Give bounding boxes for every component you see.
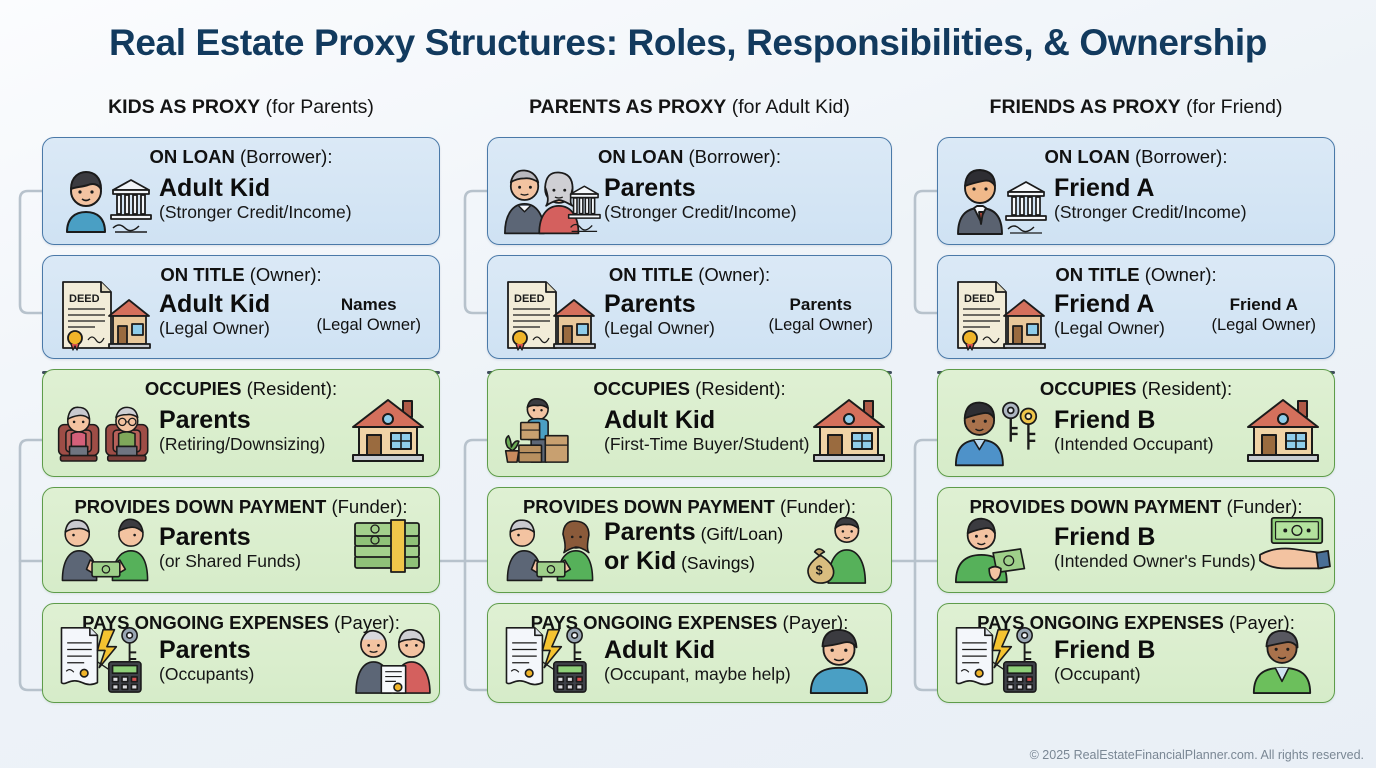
role-key: OCCUPIES	[593, 378, 690, 399]
person-holding-cash-icon	[950, 511, 1050, 585]
card-name: Friend B	[1054, 407, 1244, 434]
column-header-friends: FRIENDS AS PROXY (for Friend)	[937, 96, 1335, 119]
card-on-loan[interactable]: ON LOAN (Borrower):	[937, 137, 1335, 245]
card-subtext: (Occupants)	[159, 664, 349, 685]
card-subtext: (Stronger Credit/Income)	[159, 202, 427, 223]
card-texts: Parents (Legal Owner)	[600, 291, 764, 339]
funder-conjunction: or	[604, 547, 636, 575]
card-down-payment[interactable]: PROVIDES DOWN PAYMENT (Funder):	[42, 487, 440, 593]
role-qualifier: (Resident):	[690, 378, 786, 399]
card-down-payment[interactable]: PROVIDES DOWN PAYMENT (Funder):	[937, 487, 1335, 593]
role-qualifier: (Resident):	[1137, 378, 1233, 399]
card-subtext: (Stronger Credit/Income)	[604, 202, 879, 223]
card-name-line-2: or Kid (Savings)	[604, 548, 801, 577]
svg-text:DEED: DEED	[964, 293, 995, 305]
role-key: ON LOAN	[598, 146, 683, 167]
column-kids-as-proxy: ON LOAN (Borrower):	[42, 137, 440, 713]
card-subtext: (or Shared Funds)	[159, 551, 349, 572]
column-header-friends-soft: (for Friend)	[1181, 96, 1283, 118]
role-key: ON LOAN	[1045, 146, 1130, 167]
card-name: Friend A	[1054, 291, 1207, 318]
role-key: ON TITLE	[1055, 264, 1139, 285]
deed-house-icon: DEED	[55, 278, 155, 352]
handing-cash-icon	[55, 511, 155, 585]
column-header-parents-strong: PARENTS AS PROXY	[529, 96, 726, 118]
young-man-avatar-icon	[55, 162, 155, 236]
card-subtext: (Legal Owner)	[604, 318, 764, 339]
column-header-kids-strong: KIDS AS PROXY	[108, 96, 260, 118]
svg-text:DEED: DEED	[69, 293, 100, 305]
column-header-kids-soft: (for Parents)	[260, 96, 374, 118]
card-texts: Adult Kid (Stronger Credit/Income)	[155, 175, 427, 223]
card-occupies[interactable]: OCCUPIES (Resident):	[42, 369, 440, 477]
role-qualifier: (Owner):	[245, 264, 322, 285]
card-occupies[interactable]: OCCUPIES (Resident):	[487, 369, 892, 477]
role-key: ON TITLE	[160, 264, 244, 285]
card-on-loan[interactable]: ON LOAN (Borrower):	[487, 137, 892, 245]
card-texts: Parents (Retiring/Downsizing)	[155, 407, 349, 455]
card-ongoing-expenses[interactable]: PAYS ONGOING EXPENSES (Payer):	[487, 603, 892, 703]
role-key: ON LOAN	[150, 146, 235, 167]
card-down-payment[interactable]: PROVIDES DOWN PAYMENT (Funder):	[487, 487, 892, 593]
card-name: Parents	[159, 407, 349, 434]
card-name: Friend A	[1054, 175, 1322, 202]
card-subtext: (Legal Owner)	[159, 318, 312, 339]
role-qualifier: (Owner):	[1140, 264, 1217, 285]
card-texts: Parents (Stronger Credit/Income)	[600, 175, 879, 223]
funder-primary-note: (Gift/Loan)	[696, 524, 784, 544]
card-subtext: (Intended Owner's Funds)	[1054, 551, 1256, 572]
copyright-footer: © 2025 RealEstateFinancialPlanner.com. A…	[1030, 748, 1364, 762]
card-name: Adult Kid	[159, 291, 312, 318]
card-texts: Parents (or Shared Funds)	[155, 524, 349, 572]
role-key: OCCUPIES	[145, 378, 242, 399]
cash-stack-icon	[349, 512, 427, 584]
person-with-keys-icon	[950, 394, 1050, 468]
older-couple-avatar-icon	[500, 162, 600, 236]
side-note-title: Names	[316, 295, 421, 315]
card-ongoing-expenses[interactable]: PAYS ONGOING EXPENSES (Payer):	[42, 603, 440, 703]
businessman-suit-avatar-icon	[950, 162, 1050, 236]
young-man-avatar-icon	[801, 625, 879, 697]
card-name: Parents	[159, 524, 349, 551]
card-name: Adult Kid	[604, 407, 810, 434]
card-subtext: (Intended Occupant)	[1054, 434, 1244, 455]
card-on-title[interactable]: ON TITLE (Owner): DEED	[42, 255, 440, 359]
card-texts: Adult Kid (First-Time Buyer/Student)	[600, 407, 810, 455]
card-name: Parents	[604, 175, 879, 202]
hand-with-bill-icon	[1256, 512, 1334, 584]
column-header-friends-strong: FRIENDS AS PROXY	[990, 96, 1181, 118]
card-name: Parents	[604, 291, 764, 318]
bills-utilities-calculator-icon	[55, 624, 155, 698]
card-subtext: (Occupant, maybe help)	[604, 664, 801, 685]
funder-secondary: Kid	[636, 547, 676, 575]
role-qualifier: (Borrower):	[1130, 146, 1228, 167]
card-texts: Parents (Occupants)	[155, 637, 349, 685]
card-occupies[interactable]: OCCUPIES (Resident):	[937, 369, 1335, 477]
column-header-parents: PARENTS AS PROXY (for Adult Kid)	[487, 96, 892, 119]
deed-house-icon: DEED	[500, 278, 600, 352]
card-texts: Friend B (Intended Occupant)	[1050, 407, 1244, 455]
funder-primary: Parents	[604, 518, 696, 546]
card-texts: Adult Kid (Legal Owner)	[155, 291, 312, 339]
card-name: Friend B	[1054, 637, 1244, 664]
card-ongoing-expenses[interactable]: PAYS ONGOING EXPENSES (Payer):	[937, 603, 1335, 703]
svg-text:DEED: DEED	[514, 293, 545, 305]
column-headers: KIDS AS PROXY (for Parents) PARENTS AS P…	[0, 96, 1376, 124]
card-texts: Friend B (Occupant)	[1050, 637, 1244, 685]
side-note-title: Parents	[768, 295, 873, 315]
card-texts: Parents (Gift/Loan) or Kid (Savings)	[600, 519, 801, 577]
page-title: Real Estate Proxy Structures: Roles, Res…	[0, 22, 1376, 64]
column-header-kids: KIDS AS PROXY (for Parents)	[42, 96, 440, 119]
column-header-parents-soft: (for Adult Kid)	[726, 96, 850, 118]
card-name: Parents	[159, 637, 349, 664]
house-icon	[810, 395, 888, 467]
side-note-subtitle: (Legal Owner)	[768, 315, 873, 335]
card-name: Adult Kid	[159, 175, 427, 202]
card-subtext: (Legal Owner)	[1054, 318, 1207, 339]
person-money-bag-icon: $	[801, 512, 879, 584]
card-texts: Adult Kid (Occupant, maybe help)	[600, 637, 801, 685]
person-green-cardigan-icon	[1244, 625, 1322, 697]
card-texts: Friend A (Legal Owner)	[1050, 291, 1207, 339]
house-icon	[349, 395, 427, 467]
role-key: OCCUPIES	[1040, 378, 1137, 399]
side-note-subtitle: (Legal Owner)	[1211, 315, 1316, 335]
card-name: Friend B	[1054, 524, 1256, 551]
role-qualifier: (Owner):	[693, 264, 770, 285]
title-side-note: Friend A (Legal Owner)	[1207, 295, 1322, 335]
card-name-line-1: Parents (Gift/Loan)	[604, 519, 801, 548]
role-qualifier: (Resident):	[242, 378, 338, 399]
card-subtext: (Retiring/Downsizing)	[159, 434, 349, 455]
side-note-subtitle: (Legal Owner)	[316, 315, 421, 335]
bills-utilities-calculator-icon	[950, 624, 1050, 698]
column-parents-as-proxy: ON LOAN (Borrower):	[487, 137, 892, 713]
house-icon	[1244, 395, 1322, 467]
role-qualifier: (Borrower):	[683, 146, 781, 167]
elderly-couple-armchairs-icon	[55, 394, 155, 468]
card-on-title[interactable]: ON TITLE (Owner): DEED	[487, 255, 892, 359]
card-name: Adult Kid	[604, 637, 801, 664]
title-side-note: Names (Legal Owner)	[312, 295, 427, 335]
card-on-loan[interactable]: ON LOAN (Borrower):	[42, 137, 440, 245]
svg-text:$: $	[816, 563, 823, 577]
funder-secondary-note: (Savings)	[676, 553, 755, 573]
bills-utilities-calculator-icon	[500, 624, 600, 698]
title-side-note: Parents (Legal Owner)	[764, 295, 879, 335]
side-note-title: Friend A	[1211, 295, 1316, 315]
card-texts: Friend B (Intended Owner's Funds)	[1050, 524, 1256, 572]
card-subtext: (First-Time Buyer/Student)	[604, 434, 810, 455]
infographic-canvas: Real Estate Proxy Structures: Roles, Res…	[0, 0, 1376, 768]
card-texts: Friend A (Stronger Credit/Income)	[1050, 175, 1322, 223]
card-subtext: (Stronger Credit/Income)	[1054, 202, 1322, 223]
person-moving-boxes-icon	[500, 394, 600, 468]
handing-cash-icon	[500, 511, 600, 585]
elderly-couple-document-icon	[349, 625, 427, 697]
deed-house-icon: DEED	[950, 278, 1050, 352]
role-key: ON TITLE	[609, 264, 693, 285]
card-subtext: (Occupant)	[1054, 664, 1244, 685]
role-qualifier: (Borrower):	[235, 146, 333, 167]
card-on-title[interactable]: ON TITLE (Owner): DEED	[937, 255, 1335, 359]
column-friends-as-proxy: ON LOAN (Borrower):	[937, 137, 1335, 713]
